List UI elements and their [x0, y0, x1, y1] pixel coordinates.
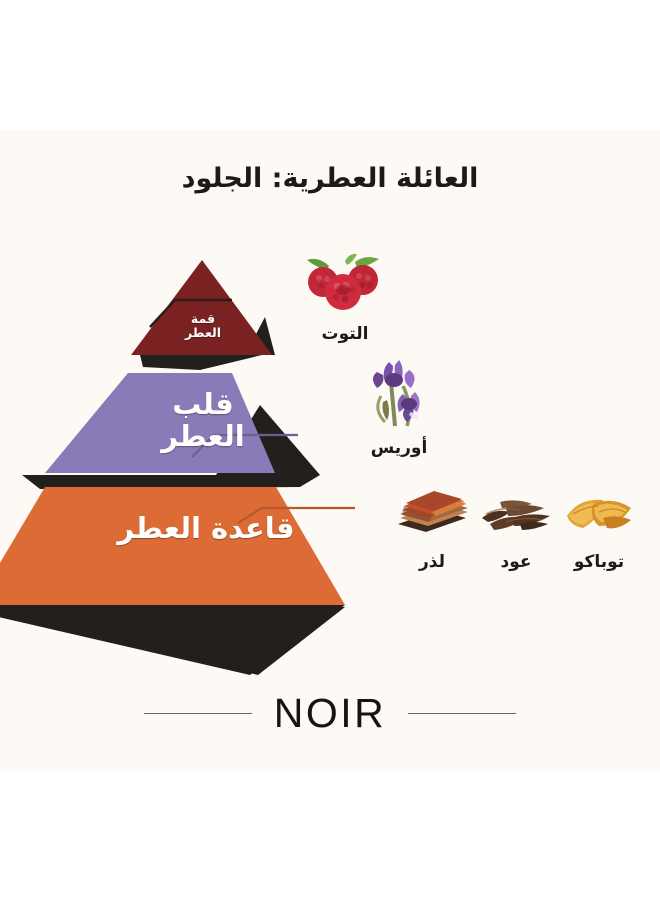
- base-tier-shape: [0, 487, 345, 605]
- iris-flower-icon: [345, 356, 453, 432]
- raspberry-icon: [287, 252, 403, 318]
- page-title: العائلة العطرية: الجلود: [0, 163, 660, 194]
- note-oud-label: عود: [470, 552, 562, 572]
- footer-rule-right: [408, 713, 516, 714]
- note-leather-label: لذر: [386, 552, 478, 572]
- heart-tier-shape: [45, 373, 275, 473]
- base-tier-shadow-b: [0, 607, 345, 675]
- note-orris-label: أوريس: [345, 438, 453, 458]
- top-tier-shape: [131, 260, 272, 355]
- brand-wordmark: NOIR: [274, 690, 387, 737]
- oud-wood-icon: [470, 488, 562, 546]
- top-tier-shadow-b: [140, 355, 262, 370]
- brand-footer: NOIR: [0, 690, 660, 737]
- fragrance-pyramid-page: العائلة العطرية: الجلود: [0, 0, 660, 900]
- footer-rule-left: [144, 713, 252, 714]
- note-berry-label: التوت: [287, 324, 403, 344]
- note-leather: لذر: [386, 488, 478, 572]
- tobacco-leaf-icon: [553, 488, 645, 546]
- note-berry: التوت: [287, 252, 403, 344]
- note-orris: أوريس: [345, 356, 453, 458]
- note-oud: عود: [470, 488, 562, 572]
- note-tobacco: توباكو: [553, 488, 645, 572]
- note-tobacco-label: توباكو: [553, 552, 645, 572]
- leather-swatch-icon: [386, 488, 478, 546]
